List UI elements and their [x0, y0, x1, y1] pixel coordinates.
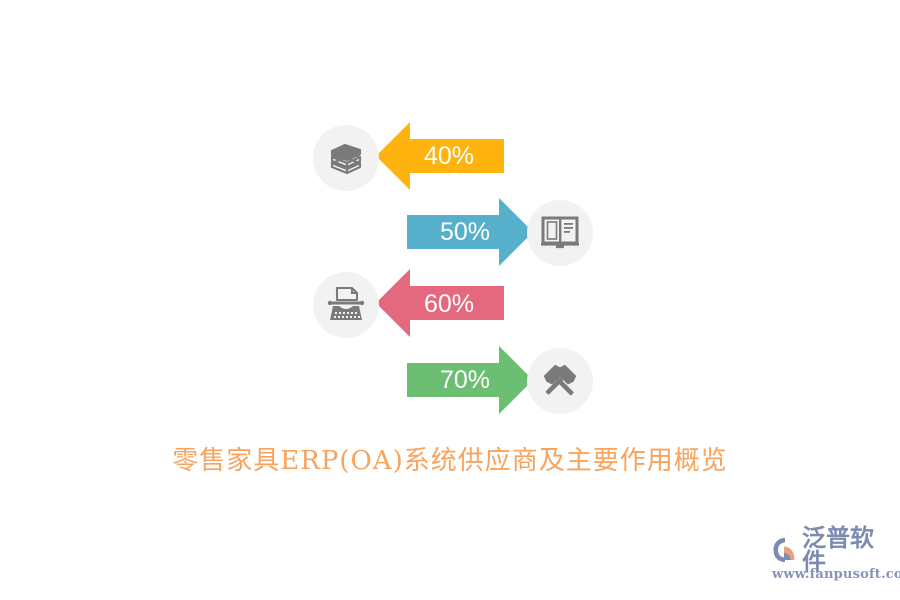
logo-row: 泛普软件	[772, 534, 892, 566]
books-stack-icon[interactable]	[313, 125, 379, 191]
brand-logo[interactable]: 泛普软件 www.fanpusoft.com	[772, 534, 892, 588]
arrow-40-label: 40%	[424, 142, 474, 171]
page-title: 零售家具ERP(OA)系统供应商及主要作用概览	[0, 440, 900, 477]
typewriter-icon[interactable]	[313, 272, 379, 338]
infographic-canvas: 40% 50% 60% 70%	[0, 0, 900, 600]
fanpu-logo-mark-icon	[772, 536, 798, 564]
arrow-50-label: 50%	[440, 218, 490, 247]
hammers-icon[interactable]	[527, 348, 593, 414]
logo-website-url: www.fanpusoft.com	[772, 567, 892, 582]
open-book-icon[interactable]	[527, 200, 593, 266]
arrow-60-label: 60%	[424, 290, 474, 319]
arrow-70-label: 70%	[440, 366, 490, 395]
